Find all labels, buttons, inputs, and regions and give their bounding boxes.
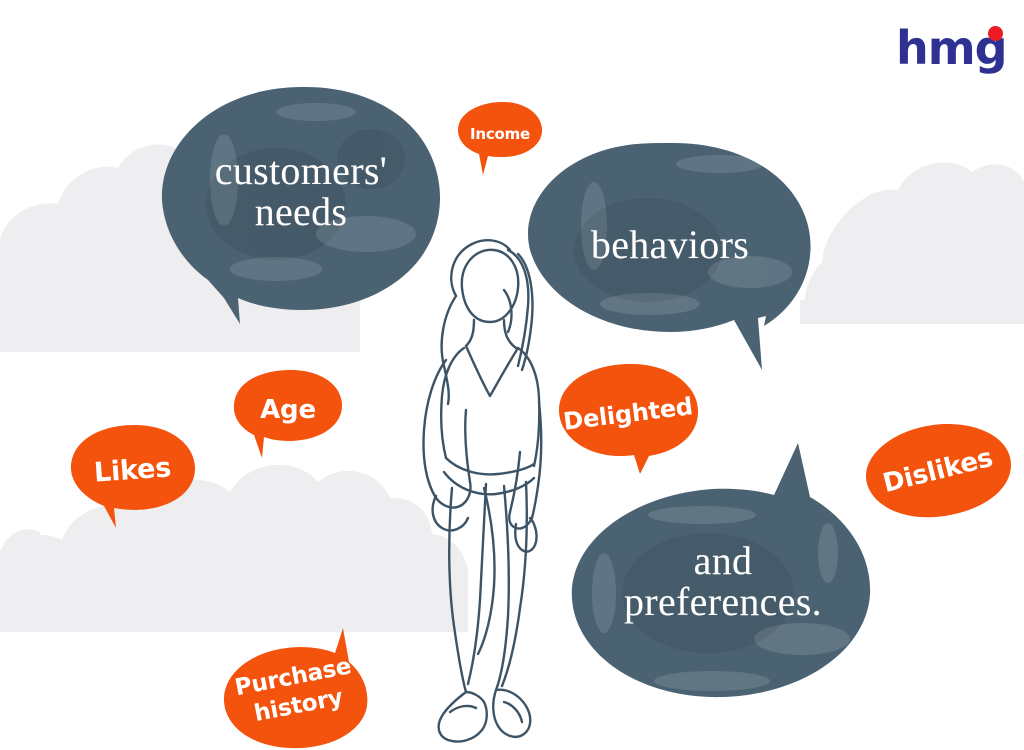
bubble-label-likes: Likes	[94, 454, 173, 489]
bubble-age[interactable]: Age	[231, 368, 345, 458]
cloud-right-base	[800, 300, 1024, 324]
cloud-right-extension	[812, 191, 910, 322]
bubble-dislikes[interactable]: Dislikes	[862, 421, 1014, 521]
bubble-label-behaviors: behaviors	[591, 224, 749, 265]
bubble-label-age: Age	[260, 396, 316, 425]
hmg-logo[interactable]: hmg	[896, 22, 1006, 82]
bubble-purchase-history[interactable]: Purchase history	[221, 628, 371, 750]
cloud-left-nub	[0, 529, 40, 572]
bubble-behaviors[interactable]: behaviors	[520, 140, 820, 370]
illustration-canvas: hmg customers' needs Income	[0, 0, 1024, 750]
bubble-label-and-preferences: and preferences.	[624, 540, 822, 622]
bubble-and-preferences[interactable]: and preferences.	[562, 443, 884, 713]
woman-line-drawing	[400, 234, 560, 750]
cloud-top-right	[804, 162, 1024, 322]
bubble-label-customers-needs: customers' needs	[215, 150, 387, 232]
logo-accent-dot	[988, 26, 1003, 41]
bubble-likes[interactable]: Likes	[68, 423, 198, 528]
bubble-label-income: Income	[470, 126, 530, 143]
